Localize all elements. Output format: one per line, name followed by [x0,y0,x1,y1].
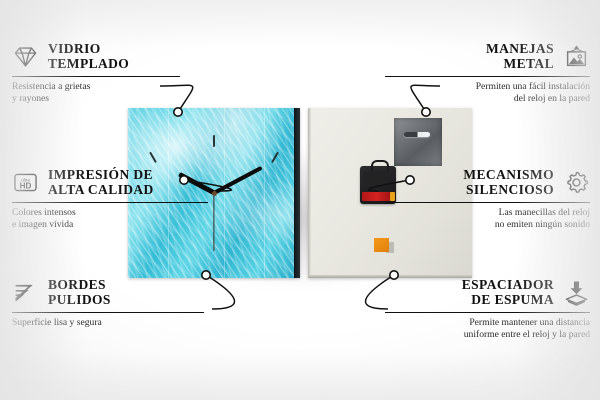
feature-desc-line2: no emiten ningún sonido [375,219,590,231]
feature-desc-line2: uniforme entre el reloj y la pared [375,329,590,341]
clock-tick [149,152,157,163]
feature-title-line1: VIDRIO [48,42,129,57]
feature-espaciador-espuma[interactable]: ESPACIADOR DE ESPUMA Permite mantener un… [375,278,590,341]
feature-rule [12,202,208,203]
polished-edges-icon [12,279,39,306]
clock-tick [213,135,215,147]
feature-rule [385,312,590,313]
feature-title-line2: TEMPLADO [48,57,129,72]
feature-title-line1: BORDES [48,278,111,293]
infographic-canvas: VIDRIO TEMPLADO Resistencia a grietas y … [0,0,600,400]
ultra-hd-icon: ultra HD [12,169,39,196]
feature-desc-line1: Permite mantener una distancia [375,317,590,329]
feature-title-line2: SILENCIOSO [463,183,554,198]
feature-impresion-alta-calidad[interactable]: ultra HD IMPRESIÓN DE ALTA CALIDAD Color… [12,168,227,231]
feature-manejas-metal[interactable]: MANEJAS METAL Permiten una fácil instala… [375,42,590,105]
back-panel-edge [308,108,311,278]
feature-desc-line1: Las manecillas del reloj [375,207,590,219]
feature-rule [385,76,590,77]
feature-title-line1: MANEJAS [486,42,554,57]
foam-spacer-icon [563,279,590,306]
feature-title-line1: IMPRESIÓN DE [48,168,154,183]
svg-text:HD: HD [20,181,32,190]
feature-bordes-pulidos[interactable]: BORDES PULIDOS Superficie lisa y segura [12,278,227,329]
picture-hanger-icon [563,43,590,70]
feature-title-line2: DE ESPUMA [462,293,554,308]
feature-desc-line1: Superficie lisa y segura [12,317,227,329]
feature-title-line2: METAL [486,57,554,72]
feature-desc-line1: Colores intensos [12,207,227,219]
clock-front-edge [294,108,300,278]
feature-rule [385,202,590,203]
feature-desc-line2: y rayones [12,93,227,105]
clock-tick [271,152,279,163]
feature-desc-line1: Resistencia a grietas [12,81,227,93]
metal-hanger-plate [394,118,442,166]
feature-title-line2: PULIDOS [48,293,111,308]
feature-title-line1: ESPACIADOR [462,278,554,293]
feature-desc-line2: e imagen vívida [12,219,227,231]
feature-mecanismo-silencioso[interactable]: MECANISMO SILENCIOSO Las manecillas del … [375,168,590,231]
feature-title-line2: ALTA CALIDAD [48,183,154,198]
feature-desc-line2: del reloj en la pared [375,93,590,105]
feature-vidrio-templado[interactable]: VIDRIO TEMPLADO Resistencia a grietas y … [12,42,227,105]
gear-icon [563,169,590,196]
diamond-icon [12,43,39,70]
feature-rule [12,312,204,313]
feature-rule [12,76,180,77]
feature-desc-line1: Permiten una fácil instalación [375,81,590,93]
hanger-slot [404,132,430,137]
feature-title-line1: MECANISMO [463,168,554,183]
foam-spacer [374,238,389,252]
